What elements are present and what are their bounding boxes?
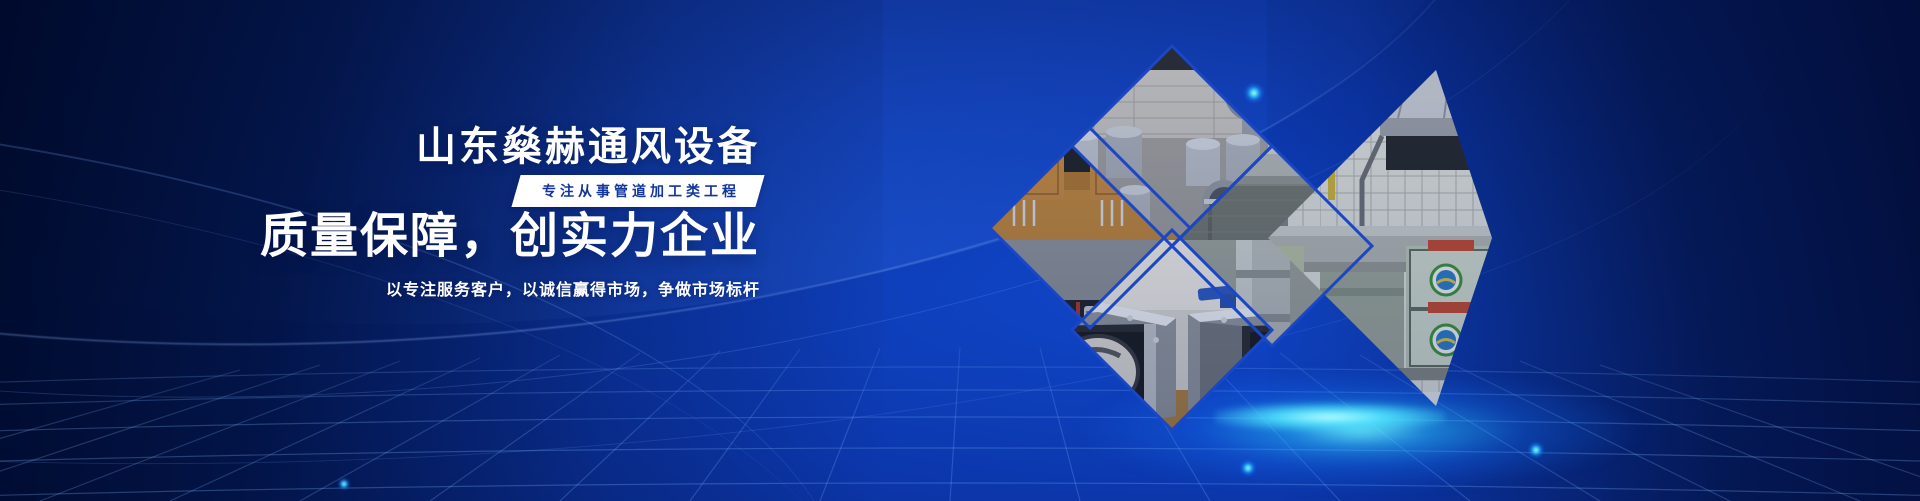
tag-ribbon-inner: 专注从事管道加工类工程 <box>511 175 764 207</box>
diamond-right-kitchen-exhaust <box>1268 70 1492 406</box>
hero-copy-block: 山东燊赫通风设备 专注从事管道加工类工程 质量保障，创实力企业 以专注服务客户，… <box>0 0 1000 501</box>
hero-banner: 山东燊赫通风设备 专注从事管道加工类工程 质量保障，创实力企业 以专注服务客户，… <box>0 0 1920 501</box>
diamond-photo-collage <box>980 40 1500 480</box>
tag-ribbon-label: 专注从事管道加工类工程 <box>542 181 740 201</box>
hero-subtagline: 以专注服务客户，以诚信赢得市场，争做市场标杆 <box>0 276 760 300</box>
glow-dot-bottom-right <box>1528 442 1544 458</box>
hero-headline: 质量保障，创实力企业 <box>0 209 760 266</box>
company-title: 山东燊赫通风设备 <box>0 124 760 170</box>
tag-ribbon: 专注从事管道加工类工程 <box>0 175 760 207</box>
